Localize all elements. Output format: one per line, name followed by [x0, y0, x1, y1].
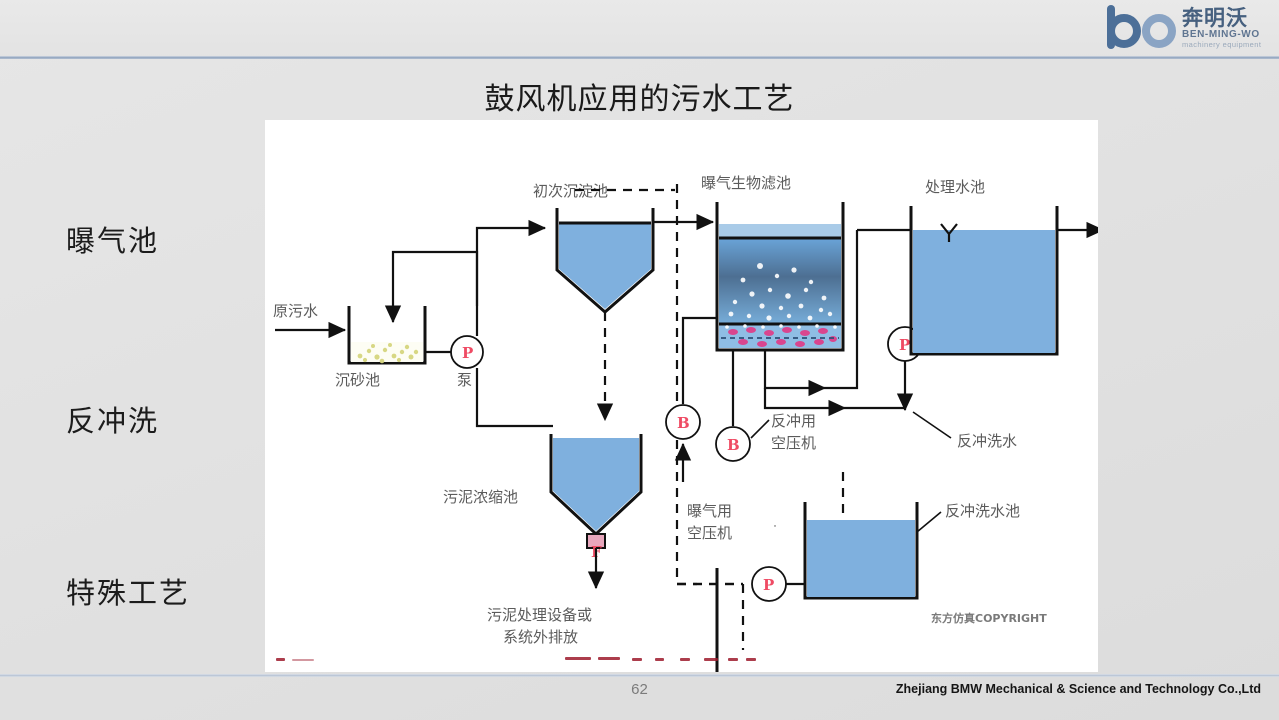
diagram-clipped-red-text	[270, 656, 890, 664]
pump-symbol-letter: P	[462, 344, 473, 362]
label-sludge-outlet-line1: 污泥处理设备或	[487, 606, 592, 624]
label-sludge-thickener: 污泥浓缩池	[443, 488, 518, 506]
pump-symbol-letter-2: P	[899, 336, 910, 354]
logo-text-block: 奔明沃 BEN-MING-WO machinery equipment	[1182, 8, 1261, 49]
logo-english-name: BEN-MING-WO	[1182, 30, 1261, 40]
label-treated-water-tank: 处理水池	[925, 178, 985, 196]
pump-symbol-letter-3: P	[763, 576, 774, 594]
header-divider	[0, 56, 1279, 59]
label-backwash-compressor-line1: 反冲用	[771, 412, 816, 430]
process-flow-svg: 原污水 沉砂池 P 泵	[265, 120, 1098, 672]
sidebar-item-special-process[interactable]: 特殊工艺	[66, 570, 190, 612]
label-aeration-compressor-line2: 空压机	[687, 524, 732, 542]
label-backwash-compressor-line2: 空压机	[771, 434, 816, 452]
sidebar-item-aeration-tank[interactable]: 曝气池	[66, 218, 159, 260]
diagram-watermark: 东方仿真COPYRIGHT	[931, 611, 1047, 625]
label-pump: 泵	[457, 371, 472, 389]
logo-chinese-name: 奔明沃	[1182, 8, 1261, 29]
sidebar-item-backwash[interactable]: 反冲洗	[66, 398, 159, 440]
slide-root: 奔明沃 BEN-MING-WO machinery equipment 鼓风机应…	[0, 0, 1279, 720]
header-band	[0, 0, 1279, 58]
label-raw-sewage: 原污水	[273, 302, 318, 320]
logo-tagline: machinery equipment	[1182, 41, 1261, 49]
blower-symbol-letter-2: B	[727, 436, 740, 454]
logo-bo-mark	[1103, 5, 1179, 51]
blower-symbol-letter-1: B	[677, 414, 690, 432]
page-title: 鼓风机应用的污水工艺	[0, 74, 1279, 118]
label-aerated-bio-filter: 曝气生物滤池	[701, 174, 791, 192]
footer-company-name: Zhejiang BMW Mechanical & Science and Te…	[896, 682, 1261, 696]
label-backwash-water: 反冲洗水	[957, 432, 1017, 450]
label-aeration-compressor-line1: 曝气用	[687, 502, 732, 520]
company-logo: 奔明沃 BEN-MING-WO machinery equipment	[1103, 2, 1271, 54]
label-grit-chamber: 沉砂池	[335, 371, 380, 389]
footer-divider	[0, 674, 1279, 677]
process-flow-diagram: 原污水 沉砂池 P 泵	[265, 120, 1098, 672]
label-backwash-water-tank: 反冲洗水池	[945, 502, 1020, 520]
label-sludge-outlet-line2: 系统外排放	[503, 628, 578, 646]
